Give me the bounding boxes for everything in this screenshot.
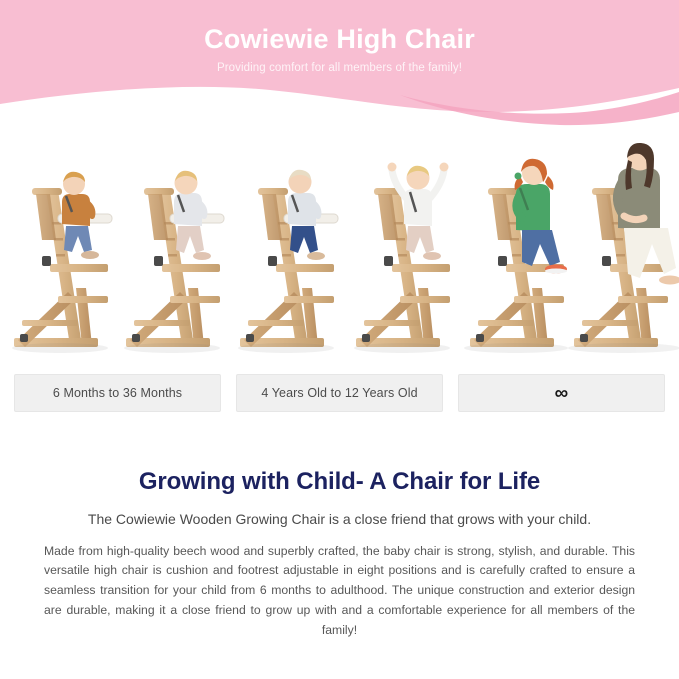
age-box-child-label: 4 Years Old to 12 Years Old (261, 386, 417, 400)
hero-banner: Cowiewie High Chair Providing comfort fo… (0, 0, 679, 128)
figure-woman-6 (574, 143, 679, 347)
figure-infant-1 (14, 172, 112, 347)
age-box-infant-label: 6 Months to 36 Months (53, 386, 182, 400)
hero-text-block: Cowiewie High Chair Providing comfort fo… (0, 0, 679, 74)
hero-tagline: Providing comfort for all members of the… (0, 55, 679, 74)
page-title: Cowiewie High Chair (0, 0, 679, 55)
section-heading: Growing with Child- A Chair for Life (44, 468, 635, 497)
section-subheading: The Cowiewie Wooden Growing Chair is a c… (44, 497, 635, 529)
figure-girl-5 (470, 159, 567, 347)
figure-toddler-4 (356, 163, 450, 348)
figure-infant-2 (126, 171, 224, 347)
age-box-child[interactable]: 4 Years Old to 12 Years Old (236, 374, 443, 412)
copy-section: Growing with Child- A Chair for Life The… (0, 468, 679, 641)
infinity-icon: ∞ (555, 384, 569, 403)
figure-toddler-3 (240, 170, 338, 347)
age-range-row: 6 Months to 36 Months 4 Years Old to 12 … (0, 374, 679, 412)
age-box-infant[interactable]: 6 Months to 36 Months (14, 374, 221, 412)
section-body-text: Made from high-quality beech wood and su… (44, 529, 635, 641)
age-box-lifetime[interactable]: ∞ (458, 374, 665, 412)
growth-stage-photo-strip (0, 132, 679, 370)
chairs-illustration (0, 132, 679, 370)
